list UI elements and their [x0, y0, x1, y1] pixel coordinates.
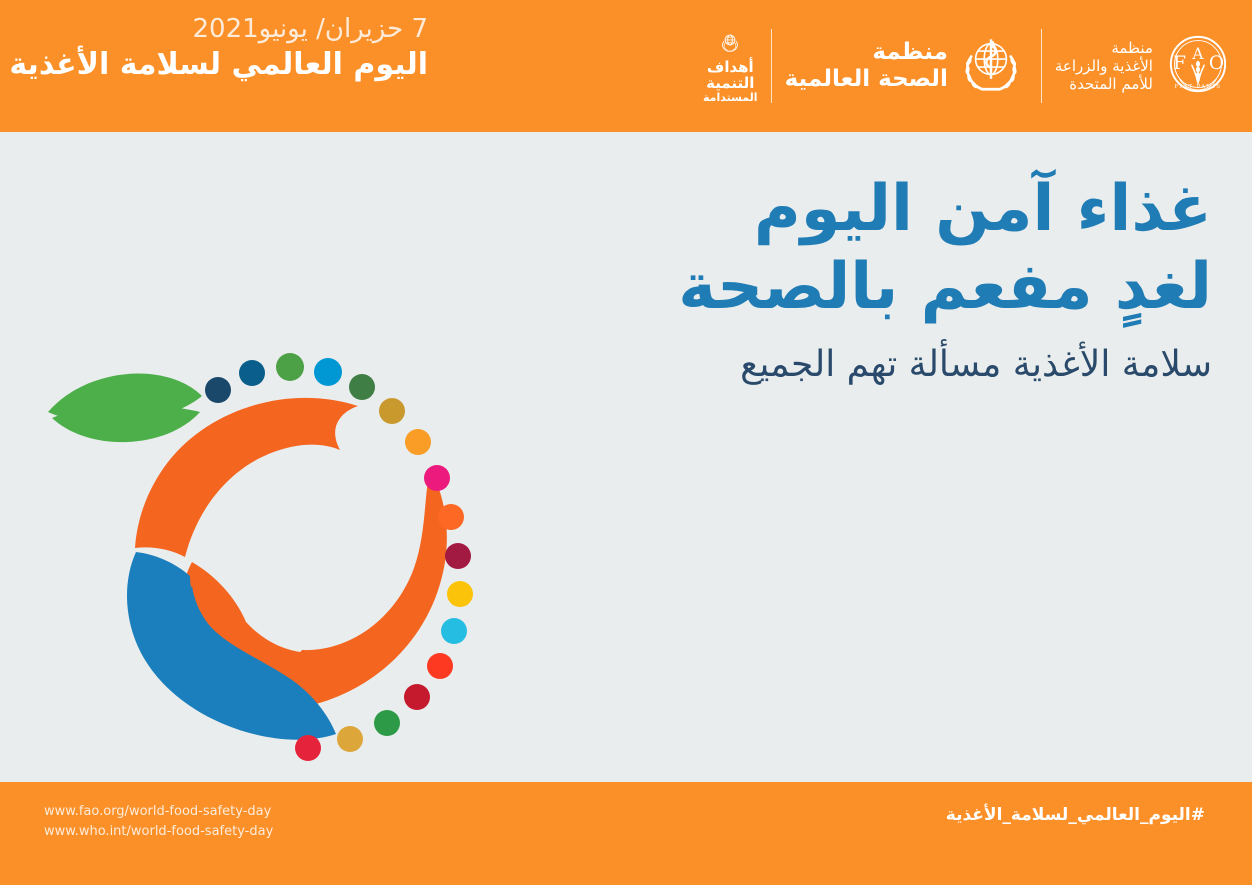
who-wordmark: منظمة الصحة العالمية	[785, 39, 948, 93]
who-logo: منظمة الصحة العالمية	[772, 23, 1041, 109]
who-line-1: منظمة	[785, 39, 948, 66]
poster-canvas: 7 حزيران/ يونيو2021 اليوم العالمي لسلامة…	[0, 0, 1252, 885]
sdg-line-3: المستدامة	[703, 92, 758, 104]
fao-url[interactable]: www.fao.org/world-food-safety-day	[44, 802, 273, 822]
event-date: 7 حزيران/ يونيو2021	[18, 14, 428, 45]
fao-logo: منظمة الأغذية والزراعة للأمم المتحدة F A…	[1042, 23, 1248, 109]
who-line-2: الصحة العالمية	[785, 66, 948, 93]
svg-text:A: A	[1191, 45, 1204, 63]
fao-emblem-icon: F A O	[1161, 27, 1235, 105]
campaign-hashtag[interactable]: #اليوم_العالمي_لسلامة_الأغذية	[946, 805, 1205, 825]
svg-text:F: F	[1173, 53, 1186, 74]
leaf-icon	[48, 374, 202, 443]
fao-line-3: للأمم المتحدة	[1055, 75, 1153, 93]
headline-line-1: غذاء آمن اليوم	[572, 170, 1212, 248]
hand-shape	[127, 552, 336, 740]
organization-logo-row: أهداف التنمية المستدامة منظمة الصحة العا…	[690, 16, 1248, 116]
world-food-safety-day-emblem	[40, 350, 530, 770]
sdg-wordmark: أهداف التنمية المستدامة	[703, 59, 758, 105]
who-url[interactable]: www.who.int/world-food-safety-day	[44, 822, 273, 842]
sdg-line-2: التنمية	[703, 75, 758, 92]
fao-line-1: منظمة	[1055, 39, 1153, 57]
svg-text:FIAT PANIS: FIAT PANIS	[1174, 84, 1221, 90]
header-title-block: 7 حزيران/ يونيو2021 اليوم العالمي لسلامة…	[18, 14, 428, 83]
sdg-line-1: أهداف	[703, 59, 758, 76]
footer-urls: www.fao.org/world-food-safety-day www.wh…	[44, 802, 273, 842]
fao-line-2: الأغذية والزراعة	[1055, 57, 1153, 75]
event-title: اليوم العالمي لسلامة الأغذية	[18, 47, 428, 83]
fao-wordmark: منظمة الأغذية والزراعة للأمم المتحدة	[1055, 39, 1153, 93]
headline-block: غذاء آمن اليوم لغدٍ مفعم بالصحة سلامة ال…	[572, 170, 1212, 389]
who-emblem-icon	[954, 27, 1028, 105]
headline-line-2: لغدٍ مفعم بالصحة	[572, 248, 1212, 326]
sdg-logo: أهداف التنمية المستدامة	[690, 23, 771, 109]
subheadline: سلامة الأغذية مسألة تهم الجميع	[572, 342, 1212, 389]
bottom-orange-band: www.fao.org/world-food-safety-day www.wh…	[0, 782, 1252, 885]
un-emblem-icon	[717, 28, 743, 58]
svg-text:O: O	[1209, 53, 1224, 74]
